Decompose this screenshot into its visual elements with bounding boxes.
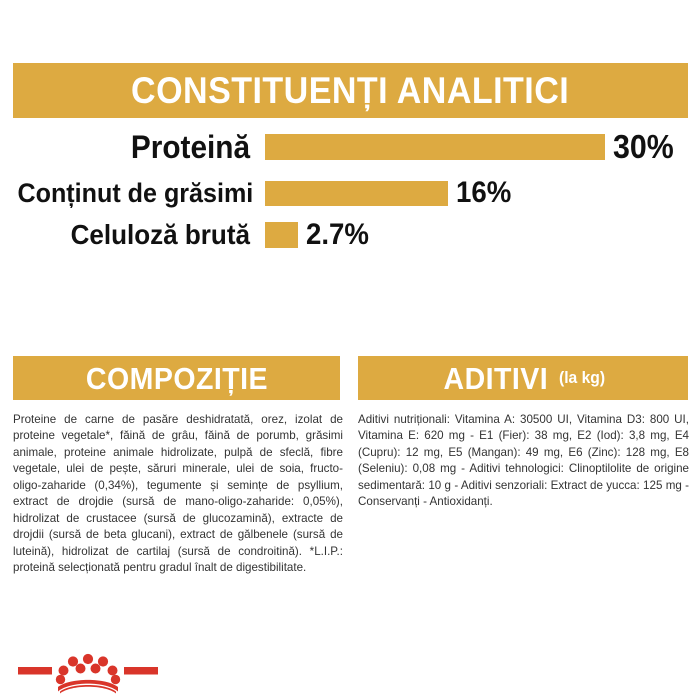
- chart-value-fiber: 2.7%: [306, 220, 369, 250]
- chart-bar-protein: [265, 134, 605, 160]
- additives-text: Aditivi nutriționali: Vitamina A: 30500 …: [358, 412, 689, 511]
- chart-label-fat: Conținut de grăsimi: [18, 180, 251, 207]
- chart-value-protein: 30%: [613, 130, 674, 163]
- additives-subtitle: (la kg): [559, 368, 605, 388]
- royal-canin-crown-logo: [18, 648, 158, 694]
- chart-row-fiber: Celuloză brută 2.7%: [0, 220, 700, 250]
- analytical-constituents-title: CONSTITUENȚI ANALITICI: [131, 72, 569, 109]
- chart-value-fat: 16%: [456, 178, 511, 208]
- chart-bar-fat: [265, 181, 448, 206]
- chart-label-fiber: Celuloză brută: [18, 221, 251, 249]
- chart-row-fat: Conținut de grăsimi 16%: [0, 178, 700, 208]
- analytical-constituents-banner: CONSTITUENȚI ANALITICI: [13, 63, 688, 118]
- chart-track-fiber: 2.7%: [265, 220, 700, 250]
- composition-title: COMPOZIȚIE: [85, 363, 267, 394]
- composition-banner: COMPOZIȚIE: [13, 356, 340, 400]
- chart-row-protein: Proteină 30%: [0, 130, 700, 163]
- chart-track-protein: 30%: [265, 130, 700, 163]
- composition-text: Proteine de carne de pasăre deshidratată…: [13, 412, 343, 577]
- product-label-panel: CONSTITUENȚI ANALITICI Proteină 30% Conț…: [0, 0, 700, 700]
- chart-label-protein: Proteină: [18, 131, 251, 163]
- chart-bar-fiber: [265, 222, 298, 248]
- chart-track-fat: 16%: [265, 178, 700, 208]
- analytical-constituents-chart: Proteină 30% Conținut de grăsimi 16% Cel…: [0, 130, 700, 270]
- additives-title: ADITIVI: [443, 363, 548, 394]
- additives-banner: ADITIVI (la kg): [358, 356, 688, 400]
